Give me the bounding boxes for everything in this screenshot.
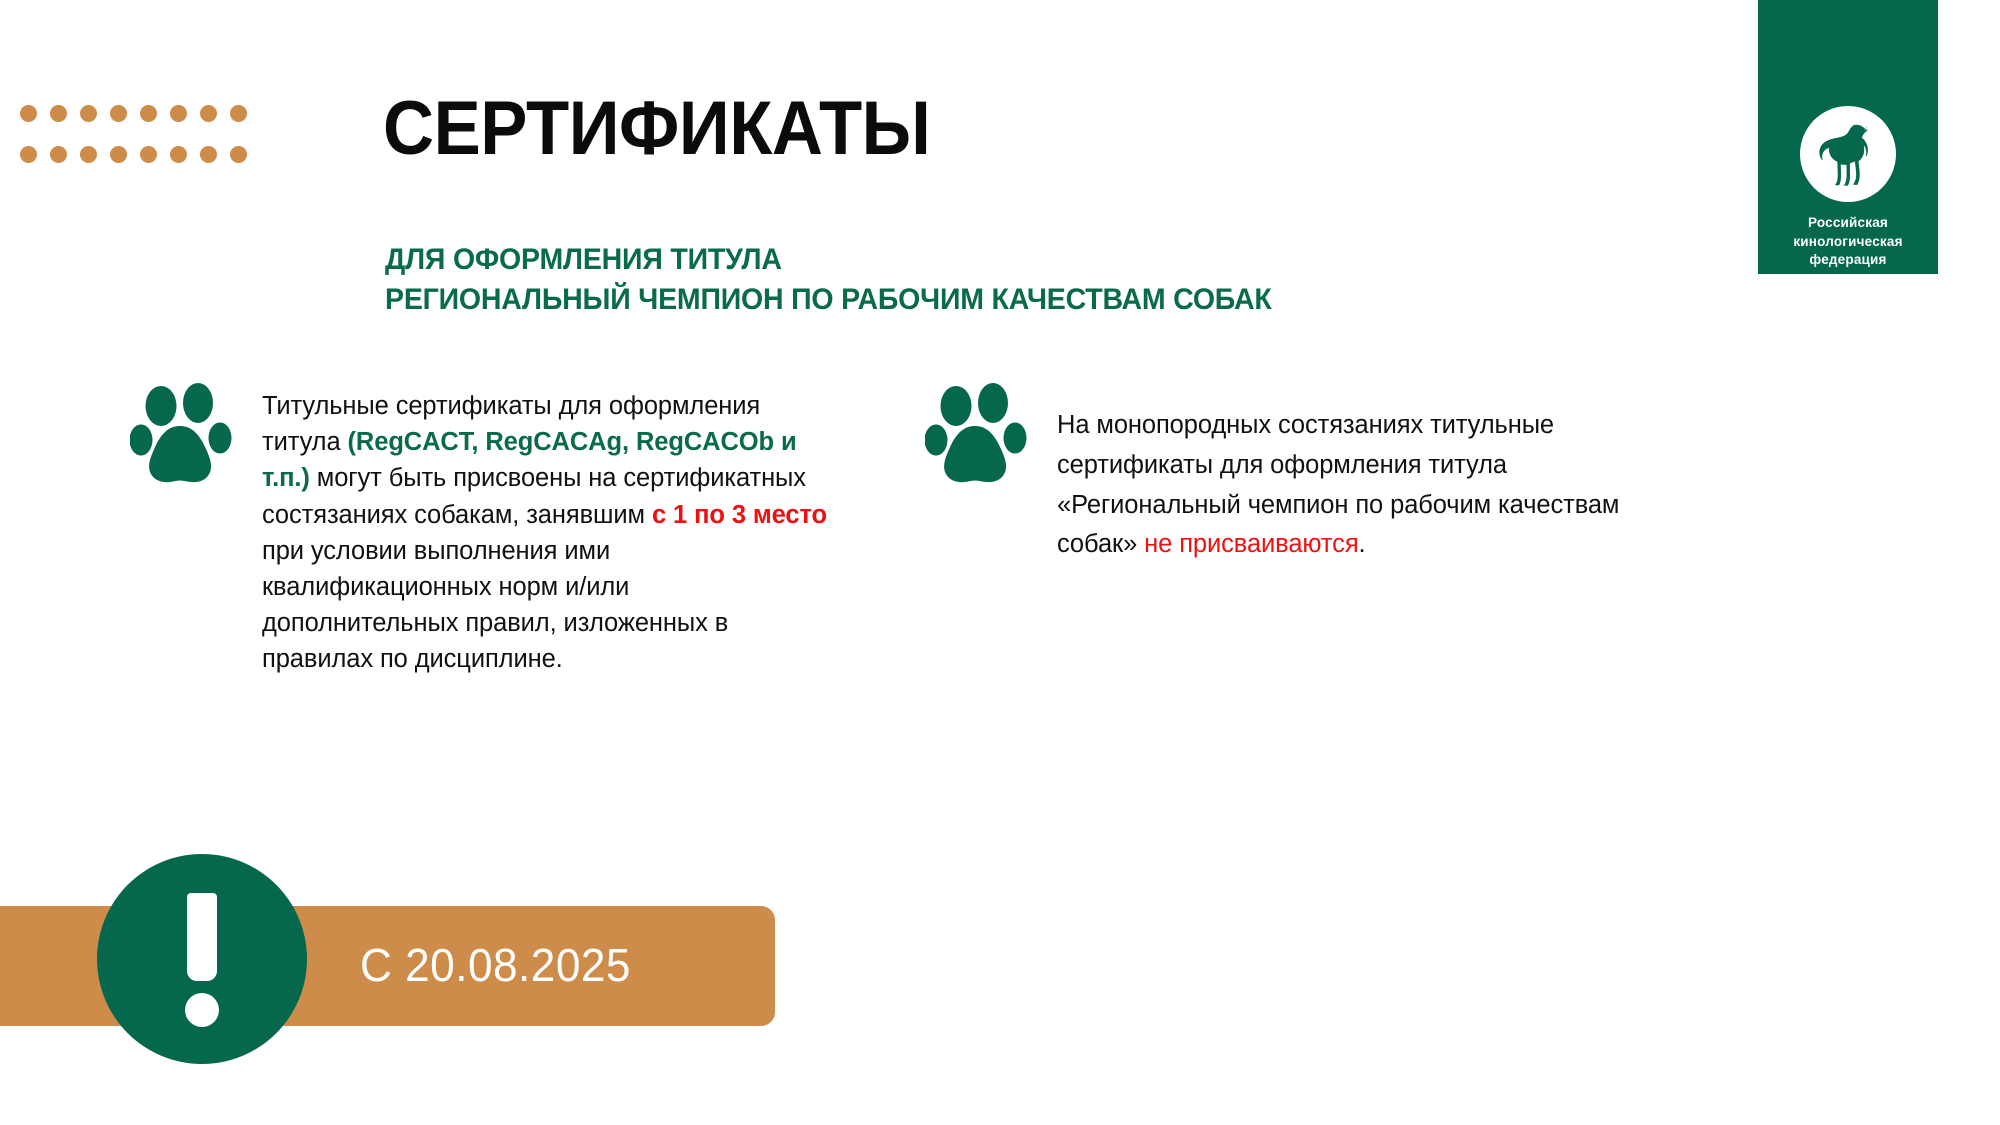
paw-print-icon xyxy=(925,382,1035,492)
dot xyxy=(230,105,247,122)
page-subtitle-line1: ДЛЯ ОФОРМЛЕНИЯ ТИТУЛА xyxy=(385,240,1272,280)
left-paragraph: Титульные сертификаты для оформления тит… xyxy=(262,382,832,678)
right-paragraph: На монопородных состязаниях титульные се… xyxy=(1057,382,1637,565)
rkf-logo-panel: Российская кинологическая федерация xyxy=(1758,0,1938,274)
dot xyxy=(170,105,187,122)
dot xyxy=(110,146,127,163)
page-title: СЕРТИФИКАТЫ xyxy=(383,91,930,167)
logo-text-line3: федерация xyxy=(1773,251,1923,270)
dot xyxy=(230,146,247,163)
logo-text-line2: кинологическая xyxy=(1773,233,1923,252)
banner-date-label: С 20.08.2025 xyxy=(360,938,631,992)
content-column-left: Титульные сертификаты для оформления тит… xyxy=(130,382,890,678)
left-text-part-3: с 1 по 3 место xyxy=(652,501,827,529)
logo-text: Российская кинологическая федерация xyxy=(1773,214,1923,270)
dot xyxy=(20,146,37,163)
dot xyxy=(170,146,187,163)
dot xyxy=(20,105,37,122)
logo-text-line1: Российская xyxy=(1773,214,1923,233)
page-subtitle-line2: РЕГИОНАЛЬНЫЙ ЧЕМПИОН ПО РАБОЧИМ КАЧЕСТВА… xyxy=(385,280,1272,320)
dot xyxy=(200,105,217,122)
dot xyxy=(50,146,67,163)
slide-canvas: Российская кинологическая федерация СЕРТ… xyxy=(0,0,2000,1125)
borzoi-dog-icon xyxy=(1811,121,1885,187)
dot xyxy=(140,105,157,122)
exclamation-mark-icon xyxy=(185,893,219,1025)
right-text-part-2: . xyxy=(1359,530,1366,558)
dot xyxy=(80,105,97,122)
paw-print-icon xyxy=(130,382,240,492)
dot xyxy=(200,146,217,163)
page-subtitle: ДЛЯ ОФОРМЛЕНИЯ ТИТУЛА РЕГИОНАЛЬНЫЙ ЧЕМПИ… xyxy=(385,240,1272,319)
content-column-right: На монопородных состязаниях титульные се… xyxy=(925,382,1685,565)
alert-badge xyxy=(97,854,307,1064)
right-text-part-1: не присваиваются xyxy=(1144,530,1358,558)
dot xyxy=(140,146,157,163)
left-text-part-4: при условии выполнения ими квалификацион… xyxy=(262,537,728,674)
logo-circle xyxy=(1800,106,1896,202)
dot xyxy=(110,105,127,122)
decorative-dot-grid xyxy=(20,105,260,176)
dot xyxy=(50,105,67,122)
dot xyxy=(80,146,97,163)
